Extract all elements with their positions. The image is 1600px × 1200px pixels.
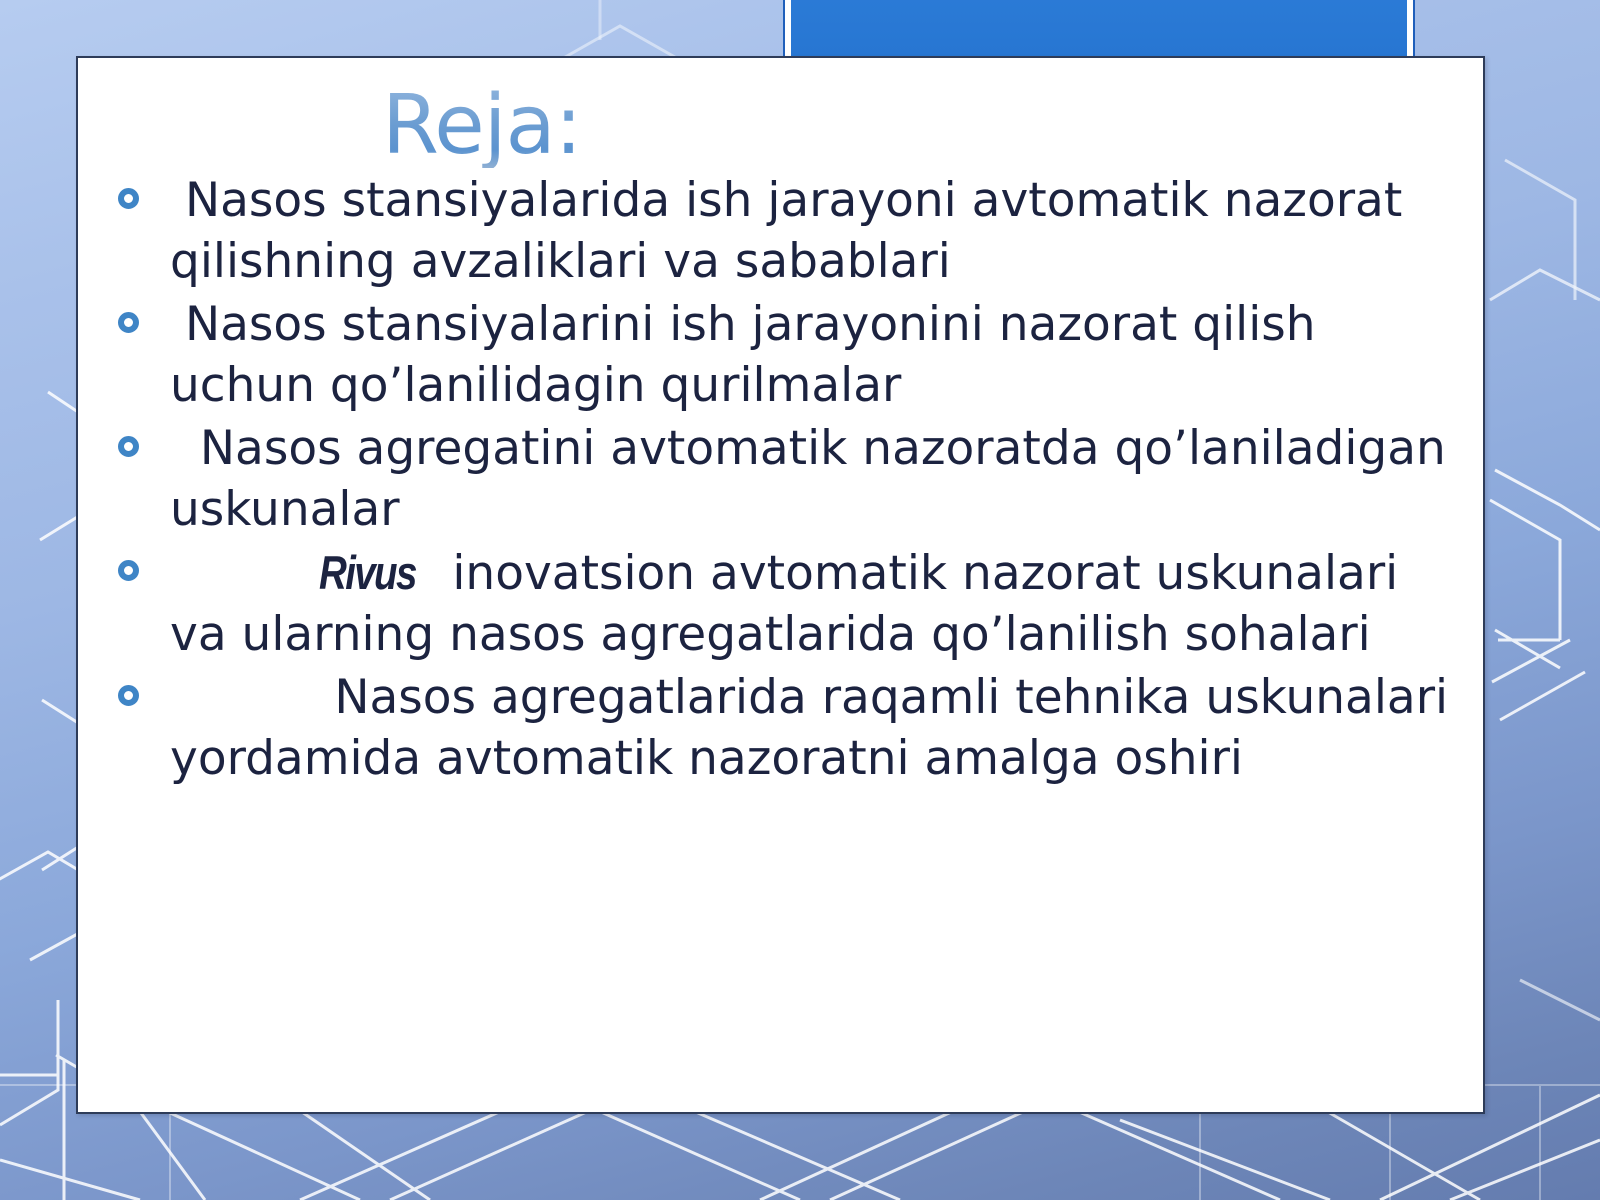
presentation-slide: Reja: Nasos stansiyalarida ish jarayoni …	[0, 0, 1600, 1200]
bullet-text: Nasos agregatlarida raqamli tehnika usku…	[170, 670, 1448, 786]
ring-bullet-icon	[118, 312, 139, 333]
bullet-lead-space	[170, 421, 200, 476]
ring-bullet-icon	[118, 188, 139, 209]
bullet-lead-space	[170, 297, 185, 352]
list-item: Nasos agregatlarida raqamli tehnika usku…	[112, 667, 1449, 789]
content-panel: Reja: Nasos stansiyalarida ish jarayoni …	[76, 56, 1485, 1114]
bullet-lead-space	[170, 670, 334, 725]
bullet-text: Nasos agregatini avtomatik nazoratda qo’…	[170, 421, 1446, 537]
bullet-lead-space	[170, 546, 319, 601]
ring-bullet-icon	[118, 560, 139, 581]
bullet-text: Nasos stansiyalarini ish jarayonini nazo…	[170, 297, 1316, 413]
bullet-list: Nasos stansiyalarida ish jarayoni avtoma…	[112, 170, 1449, 790]
bullet-text: Nasos stansiyalarida ish jarayoni avtoma…	[170, 173, 1402, 289]
list-item: Rivus inovatsion avtomatik nazorat uskun…	[112, 542, 1449, 665]
content-panel-inner: Reja: Nasos stansiyalarida ish jarayoni …	[78, 58, 1483, 1112]
ring-bullet-icon	[118, 436, 139, 457]
brand-name-rivus: Rivus	[319, 542, 416, 603]
list-item: Nasos agregatini avtomatik nazoratda qo’…	[112, 418, 1449, 540]
ring-bullet-icon	[118, 685, 139, 706]
slide-title: Reja:	[382, 84, 1449, 168]
bullet-lead-space	[170, 173, 185, 228]
list-item: Nasos stansiyalarida ish jarayoni avtoma…	[112, 170, 1449, 292]
list-item: Nasos stansiyalarini ish jarayonini nazo…	[112, 294, 1449, 416]
